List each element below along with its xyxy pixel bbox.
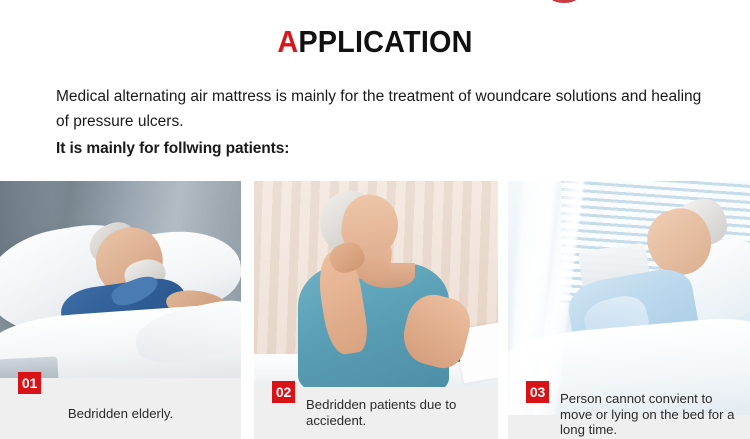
card-3-photo [508,181,750,415]
card-1-number-badge: 01 [18,372,41,394]
card-1-photo [0,181,241,378]
intro-block: Medical alternating air mattress is main… [56,84,716,161]
application-cards: 01 Bedridden elderly. 02 Bedridden patie… [0,181,750,439]
card-3-number-badge: 03 [526,381,549,403]
card-2-number-badge: 02 [272,381,295,403]
application-card-2[interactable]: 02 Bedridden patients due to acciedent. [254,181,498,439]
bedridden-elderly-image [0,181,241,378]
application-card-3[interactable]: 03 Person cannot convient to move or lyi… [508,181,750,439]
page-title-accent-letter: A [277,24,298,59]
application-card-1[interactable]: 01 Bedridden elderly. [0,181,241,439]
intro-lead-text: Medical alternating air mattress is main… [56,88,701,130]
top-red-mark [551,0,577,3]
page-title: APPLICATION [26,24,724,60]
card-2-caption-text: Bedridden patients due to acciedent. [306,397,486,429]
long-term-bed-patient-image [508,181,750,415]
card-3-caption-text: Person cannot convient to move or lying … [560,391,740,438]
intro-emphasis-text: It is mainly for follwing patients: [56,136,716,161]
neck-pain-patient-image [254,181,498,387]
card-1-caption-text: Bedridden elderly. [0,406,241,422]
page-title-rest: PPLICATION [298,24,472,59]
card-2-photo [254,181,498,387]
